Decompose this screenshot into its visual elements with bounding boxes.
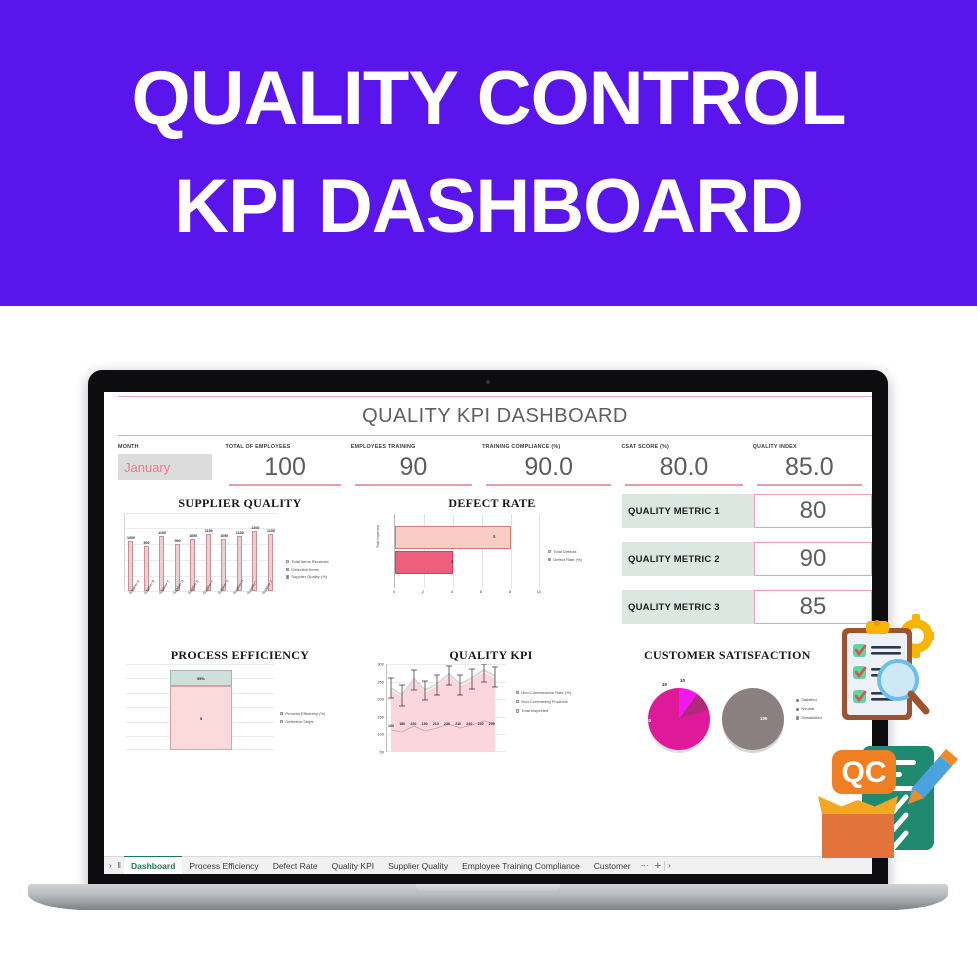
quality-kpi-y-tick: 200 [377, 697, 384, 702]
legend-item: Non-Conformance Rate (%) [516, 688, 571, 697]
quality-kpi-y-tick: 150 [377, 714, 384, 719]
quality-kpi-data-label: 190 [422, 722, 428, 726]
sheet-tab-bar: › ‖ DashboardProcess EfficiencyDefect Ra… [104, 856, 872, 874]
legend-item: Dissatisfied [796, 714, 822, 723]
panel-supplier-quality: SUPPLIER QUALITY 10009001100950105011501… [120, 496, 360, 642]
legend-label: Supplier Quality (%) [291, 573, 327, 581]
laptop-base [28, 884, 948, 910]
kpi-value-3: 80.0 [621, 453, 746, 482]
laptop-mockup: QUALITY KPI DASHBOARD MONTH January TOTA… [0, 306, 977, 977]
legend-item: Process Efficiency (%) [280, 710, 325, 718]
quality-metric-row-2[interactable]: QUALITY METRIC 2 90 [622, 542, 872, 576]
supplier-quality-title: SUPPLIER QUALITY [120, 496, 360, 511]
defect-rate-bar-defect-rate [395, 551, 453, 574]
defect-rate-x-tick: 8 [509, 589, 511, 594]
tab-nav-prev-icon[interactable]: › [106, 861, 115, 870]
kpi-underline-1 [355, 484, 472, 486]
month-select[interactable]: January [118, 454, 212, 480]
supplier-quality-bar-label: 1050 [183, 534, 203, 538]
kpi-value-4: 85.0 [753, 453, 866, 482]
sheet-tab-defect-rate[interactable]: Defect Rate [266, 857, 325, 875]
page-root: QUALITY CONTROL KPI DASHBOARD QUALITY KP… [0, 0, 977, 977]
legend-label: Non-Conforming Products [521, 697, 567, 706]
quality-metric-row-3[interactable]: QUALITY METRIC 3 85 [622, 590, 872, 624]
qc-badge: QC [832, 750, 896, 794]
legend-swatch [286, 568, 289, 571]
quality-kpi-data-label: 210 [455, 722, 461, 726]
legend-item: Supplier Quality (%) [286, 573, 329, 581]
defect-rate-x-tick: 2 [422, 589, 424, 594]
quality-kpi-y-tick: 250 [377, 679, 384, 684]
quality-kpi-data-label: 100 [388, 724, 394, 728]
process-efficiency-plot: 95% 5 [126, 664, 274, 750]
supplier-quality-bar-label: 1100 [152, 531, 172, 535]
legend-label: Defective Steps [285, 718, 313, 726]
sheet-tabs: DashboardProcess EfficiencyDefect RateQu… [124, 856, 638, 874]
quality-kpi-data-label: 210 [433, 722, 439, 726]
kpi-underline-3 [625, 484, 742, 486]
legend-label: Neutral [801, 705, 814, 714]
defect-rate-x-tick: 0 [393, 589, 395, 594]
quality-checklist-clipboard-icon [836, 614, 934, 730]
kpi-cell-csat-score: CSAT SCORE (%) 80.0 [621, 440, 752, 490]
sheet-tab-employee-training-compliance[interactable]: Employee Training Compliance [455, 857, 587, 875]
kpi-label-month: MONTH [118, 440, 225, 450]
quality-kpi-data-label: 230 [489, 722, 495, 726]
legend-swatch [796, 716, 799, 719]
quality-kpi-plot: 100180220190210230210220240230 [386, 664, 506, 752]
pie-label-satisfied: 80 [646, 718, 651, 723]
legend-label: Dissatisfied [801, 714, 821, 723]
panel-quality-kpi: QUALITY KPI 30025020015010050 [366, 648, 616, 788]
supplier-quality-bar-label: 1150 [261, 529, 281, 533]
quality-metric-name-2: QUALITY METRIC 2 [622, 542, 754, 576]
process-efficiency-segment-defects: 5 [170, 686, 232, 750]
kpi-cell-employees-training: EMPLOYEES TRAINING 90 [351, 440, 482, 490]
legend-swatch [280, 712, 283, 715]
legend-swatch [796, 699, 799, 702]
supplier-quality-bar-label: 900 [137, 541, 157, 545]
quality-kpi-data-label: 220 [410, 722, 416, 726]
defect-rate-plot: 8 4 [394, 514, 539, 588]
quality-kpi-legend: Non-Conformance Rate (%)Non-Conforming P… [516, 688, 571, 716]
kpi-underline-4 [757, 484, 862, 486]
quality-metric-value-1[interactable]: 80 [754, 494, 872, 528]
legend-item: Satisfied [796, 696, 822, 705]
legend-swatch [796, 708, 799, 711]
legend-label: Process Efficiency (%) [285, 710, 325, 718]
sheet-tab-dashboard[interactable]: Dashboard [124, 856, 182, 874]
supplier-quality-bar [128, 541, 133, 591]
customer-satisfaction-title: CUSTOMER SATISFACTION [624, 648, 872, 663]
kpi-label-4: QUALITY INDEX [753, 440, 872, 450]
kpi-underline-2 [486, 484, 611, 486]
kpi-cell-training-compliance: TRAINING COMPLIANCE (%) 90.0 [482, 440, 621, 490]
pie-rating-mix [648, 688, 710, 750]
defect-rate-title: DEFECT RATE [372, 496, 612, 511]
scroll-right-icon[interactable]: › [665, 861, 674, 870]
sheet-tab-process-efficiency[interactable]: Process Efficiency [182, 857, 265, 875]
defect-rate-label-total: 8 [493, 534, 495, 539]
legend-item: Defect Rate (%) [548, 556, 582, 564]
defect-rate-y-label: Total Inspected [376, 525, 380, 548]
legend-swatch [548, 550, 551, 553]
supplier-quality-bar-label: 1150 [199, 529, 219, 533]
legend-label: Defective Items [291, 566, 319, 574]
supplier-quality-plot: 10009001100950105011501050110012001150 [124, 513, 276, 591]
legend-swatch [516, 709, 519, 712]
quality-metric-value-2[interactable]: 90 [754, 542, 872, 576]
quality-kpi-data-label: 220 [466, 722, 472, 726]
quality-kpi-data-label: 240 [478, 722, 484, 726]
defect-rate-x-tick: 10 [537, 589, 541, 594]
customer-satisfaction-legend: SatisfiedNeutralDissatisfied [796, 696, 822, 722]
pie-label-total: 100 [760, 716, 767, 721]
legend-label: Non-Conformance Rate (%) [521, 688, 571, 697]
quality-kpi-data-label: 180 [399, 722, 405, 726]
kpi-value-0: 100 [225, 453, 344, 482]
qc-package-sticker: QC [816, 742, 966, 874]
legend-item: Non-Conforming Products [516, 697, 571, 706]
supplier-quality-bars: 10009001100950105011501050110012001150 [127, 522, 274, 591]
legend-item: Neutral [796, 705, 822, 714]
quality-kpi-data-label: 230 [444, 722, 450, 726]
supplier-quality-legend: Total Items ReceivedDefective ItemsSuppl… [286, 558, 329, 581]
banner-title-line-1: QUALITY CONTROL [131, 45, 845, 153]
panel-defect-rate: DEFECT RATE Total Inspected 8 4 [372, 496, 612, 642]
legend-label: Total Inspected [521, 706, 548, 715]
quality-kpi-series-svg [387, 664, 507, 752]
defect-rate-legend: Total DefectsDefect Rate (%) [548, 548, 582, 563]
dashboard-title: QUALITY KPI DASHBOARD [362, 405, 628, 428]
legend-swatch [280, 720, 283, 723]
sheet-tab-customer[interactable]: Customer [587, 857, 638, 875]
legend-label: Total Defects [553, 548, 576, 556]
kpi-value-2: 90.0 [482, 453, 615, 482]
legend-item: Defective Items [286, 566, 329, 574]
sheet-tab-supplier-quality[interactable]: Supplier Quality [381, 857, 455, 875]
supplier-quality-column: 1100 [158, 522, 165, 591]
laptop-base-notch [416, 884, 560, 891]
legend-item: Defective Steps [280, 718, 325, 726]
kpi-header-strip: MONTH January TOTAL OF EMPLOYEES 100 EMP… [118, 440, 872, 490]
supplier-quality-bar-label: 1100 [230, 531, 250, 535]
sheet-tab-quality-kpi[interactable]: Quality KPI [325, 857, 382, 875]
process-efficiency-segment-pct: 95% [170, 670, 232, 686]
legend-label: Defect Rate (%) [553, 556, 581, 564]
quality-kpi-y-tick: 300 [377, 662, 384, 667]
kpi-label-1: EMPLOYEES TRAINING [351, 440, 482, 450]
kpi-underline-0 [229, 484, 340, 486]
supplier-quality-column: 1000 [127, 522, 134, 591]
legend-swatch [286, 575, 289, 578]
title-banner: QUALITY CONTROL KPI DASHBOARD [0, 0, 977, 306]
banner-title-line-2: KPI DASHBOARD [174, 153, 803, 261]
legend-item: Total Defects [548, 548, 582, 556]
quality-metric-name-1: QUALITY METRIC 1 [622, 494, 754, 528]
process-efficiency-title: PROCESS EFFICIENCY [120, 648, 360, 663]
panel-quality-metrics: QUALITY METRIC 1 80 QUALITY METRIC 2 90 … [622, 494, 872, 640]
quality-metric-name-3: QUALITY METRIC 3 [622, 590, 754, 624]
kpi-cell-quality-index: QUALITY INDEX 85.0 [753, 440, 872, 490]
legend-item: Total Inspected [516, 706, 571, 715]
supplier-quality-bar-label: 950 [168, 539, 188, 543]
quality-kpi-y-axis: 30025020015010050 [368, 662, 384, 752]
supplier-quality-x-axis: Supplier ASupplier BSupplier CSupplier D… [124, 593, 276, 625]
defect-rate-label-rate: 4 [451, 559, 453, 564]
quality-kpi-title: QUALITY KPI [366, 648, 616, 663]
kpi-cell-total-employees: TOTAL OF EMPLOYEES 100 [225, 440, 350, 490]
laptop-screen: QUALITY KPI DASHBOARD MONTH January TOTA… [104, 392, 872, 874]
kpi-label-2: TRAINING COMPLIANCE (%) [482, 440, 621, 450]
pie-total [722, 688, 784, 750]
pie-label-neutral: 10 [662, 682, 667, 687]
pie-label-dissatisfied: 10 [680, 678, 685, 683]
kpi-label-0: TOTAL OF EMPLOYEES [225, 440, 350, 450]
supplier-quality-bar-label: 1000 [121, 536, 141, 540]
laptop-lid: QUALITY KPI DASHBOARD MONTH January TOTA… [88, 370, 888, 890]
panel-process-efficiency: PROCESS EFFICIENCY 95% 5 [120, 648, 360, 788]
kpi-value-1: 90 [351, 453, 476, 482]
defect-rate-x-tick: 6 [480, 589, 482, 594]
kpi-cell-month: MONTH January [118, 440, 225, 490]
supplier-quality-column: 900 [143, 522, 150, 591]
add-sheet-icon[interactable]: + [652, 860, 664, 872]
legend-item: Total Items Received [286, 558, 329, 566]
dashboard-title-band: QUALITY KPI DASHBOARD [118, 396, 872, 436]
quality-metric-row-1[interactable]: QUALITY METRIC 1 80 [622, 494, 872, 528]
legend-swatch [548, 558, 551, 561]
open-box-icon [818, 796, 898, 858]
tab-more-icon[interactable]: ··· [638, 861, 652, 870]
legend-swatch [516, 691, 519, 694]
quality-kpi-y-tick: 50 [380, 750, 384, 755]
svg-text:QC: QC [842, 756, 887, 789]
legend-label: Total Items Received [291, 558, 328, 566]
kpi-label-3: CSAT SCORE (%) [621, 440, 752, 450]
legend-swatch [286, 560, 289, 563]
legend-label: Satisfied [801, 696, 816, 705]
process-efficiency-legend: Process Efficiency (%)Defective Steps [280, 710, 325, 725]
quality-kpi-y-tick: 100 [377, 732, 384, 737]
webcam-icon [486, 380, 490, 384]
tab-nav-last-icon[interactable]: ‖ [115, 861, 124, 870]
defect-rate-x-tick: 4 [451, 589, 453, 594]
legend-swatch [516, 700, 519, 703]
spreadsheet-dashboard: QUALITY KPI DASHBOARD MONTH January TOTA… [104, 392, 872, 874]
